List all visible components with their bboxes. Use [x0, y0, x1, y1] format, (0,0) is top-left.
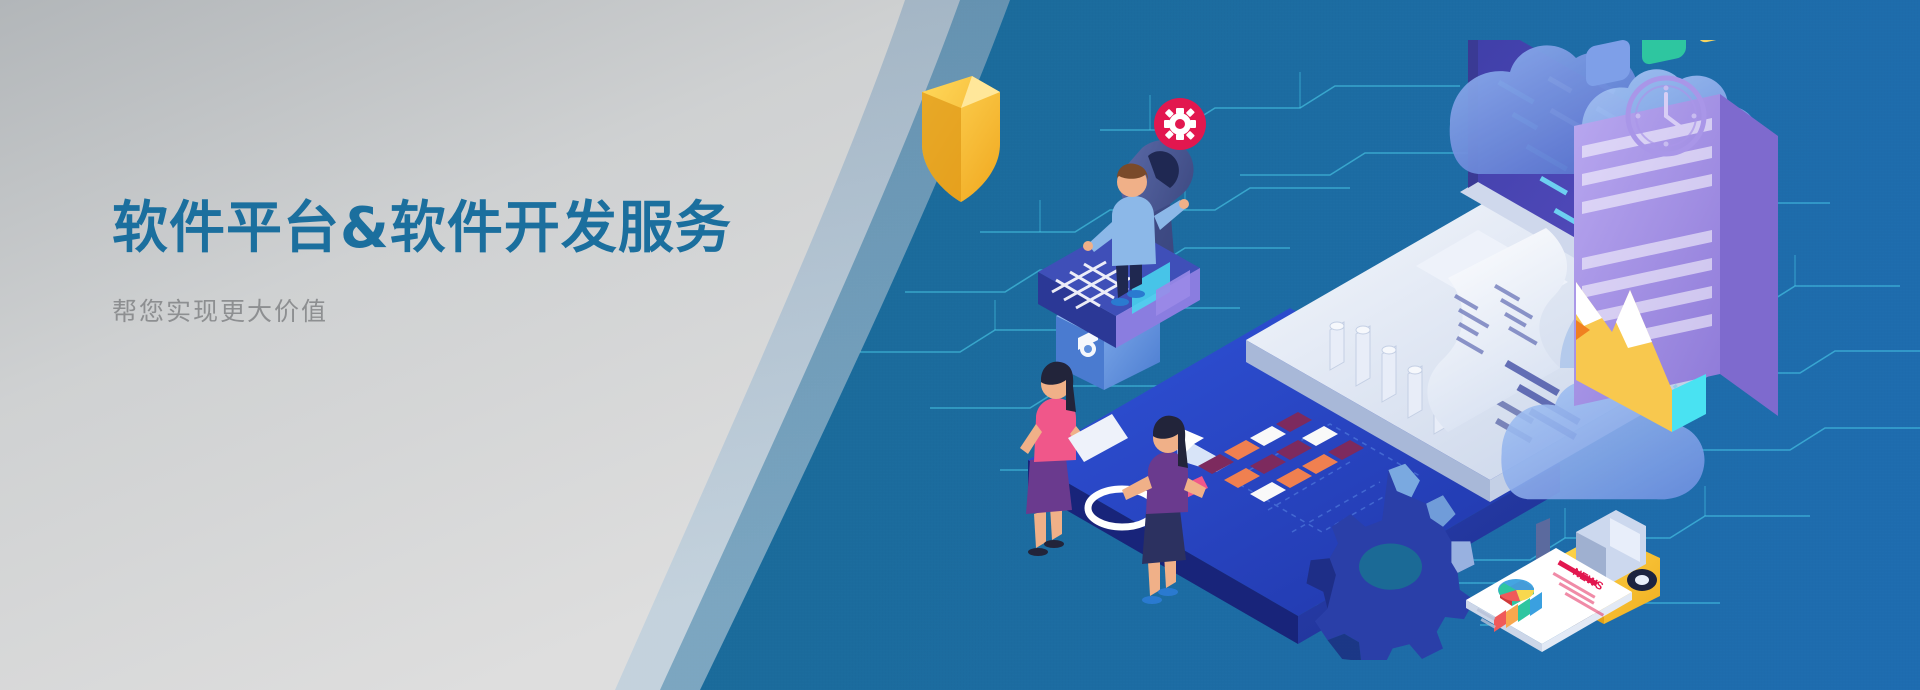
banner-text-block: 软件平台&软件开发服务 帮您实现更大价值	[112, 196, 752, 329]
clock-icon	[1628, 78, 1704, 154]
gear-badge-icon	[1154, 98, 1206, 150]
hero-banner: 软件平台&软件开发服务 帮您实现更大价值	[0, 0, 1920, 690]
page-title: 软件平台&软件开发服务	[112, 196, 752, 262]
illustration-isometric-software: NEWS	[860, 40, 1920, 660]
shield-icon	[922, 76, 1000, 202]
page-subtitle: 帮您实现更大价值	[112, 296, 752, 329]
